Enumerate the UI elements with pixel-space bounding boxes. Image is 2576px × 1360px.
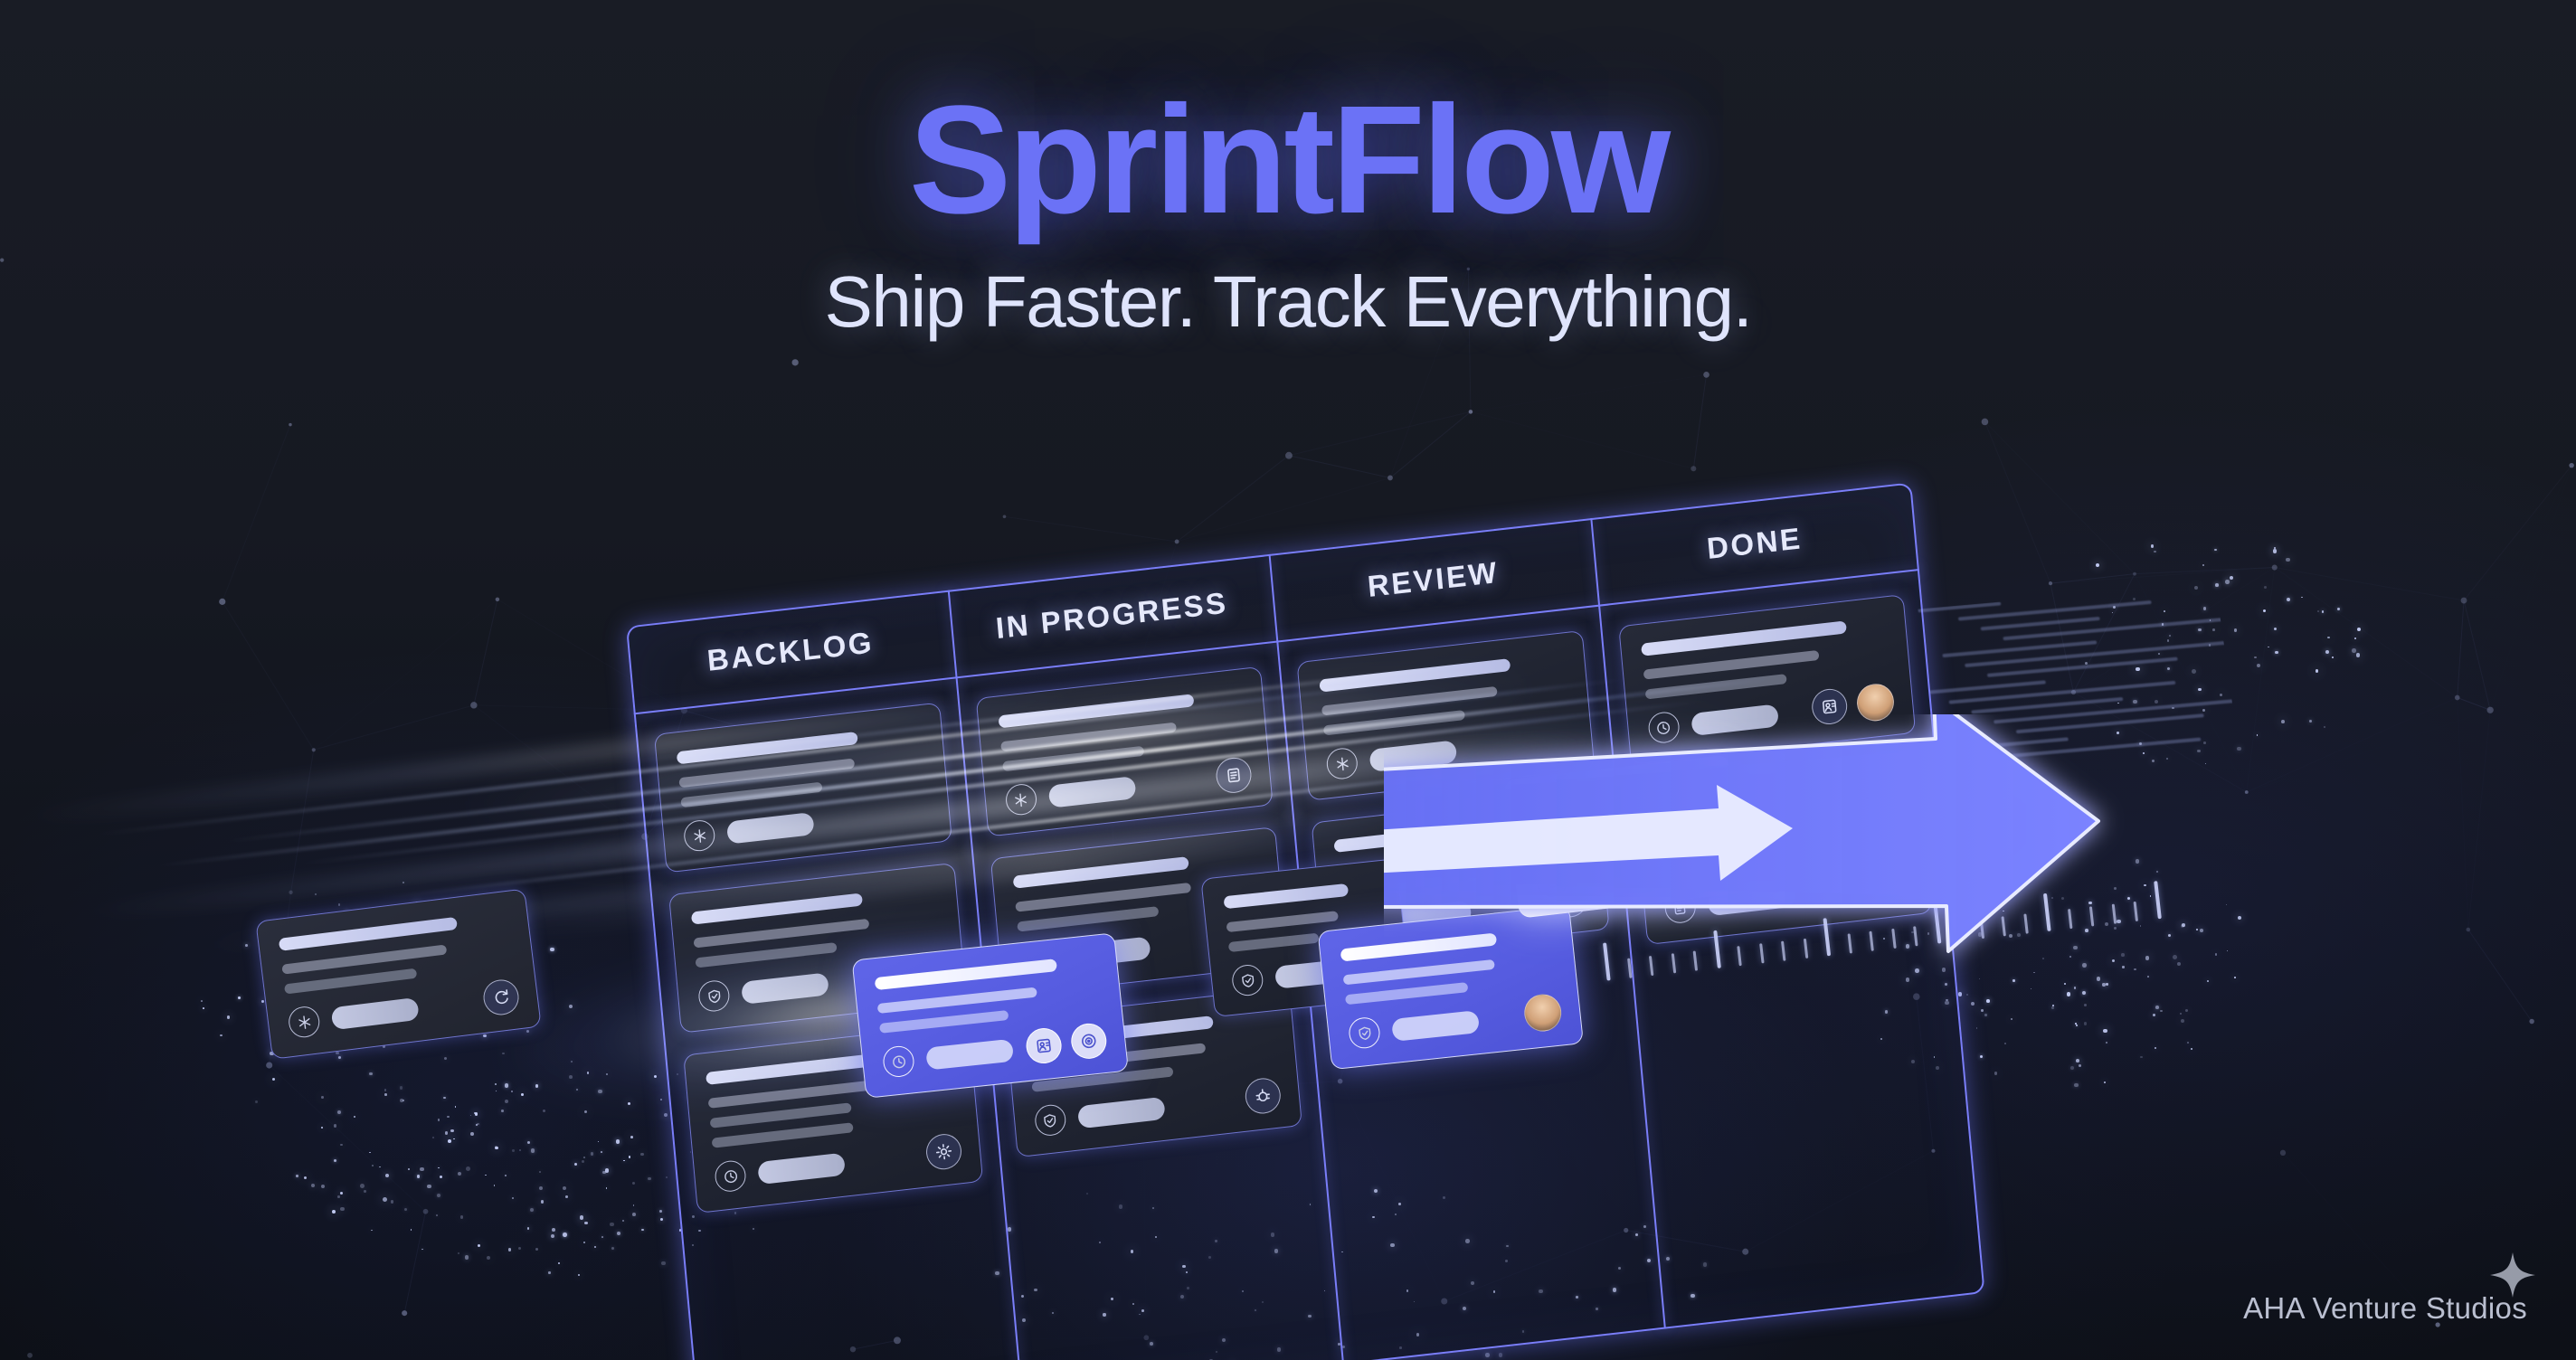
particle <box>391 1200 394 1204</box>
card-label-pill <box>741 972 829 1005</box>
constellation-line <box>291 705 474 892</box>
particle <box>337 1110 341 1114</box>
particle <box>2316 669 2318 672</box>
target-icon <box>1079 1032 1098 1051</box>
refresh-icon <box>491 987 510 1006</box>
card-text-line <box>1532 831 1640 853</box>
timeline-tick <box>2023 914 2028 934</box>
particle <box>2011 1018 2012 1020</box>
card-text-line <box>1015 883 1191 912</box>
constellation-line <box>2458 697 2490 710</box>
card-badges <box>1215 756 1253 795</box>
constellation-node <box>2245 790 2249 794</box>
clock-icon <box>1655 719 1672 736</box>
particle <box>2140 925 2142 927</box>
particle <box>505 1083 509 1088</box>
particle <box>576 1089 578 1091</box>
asterisk-icon-chip[interactable] <box>683 818 716 853</box>
shield-icon <box>1543 873 1560 890</box>
particle <box>2121 953 2125 957</box>
particle <box>610 1223 614 1227</box>
card-footer <box>714 1135 961 1193</box>
doc-icon-badge[interactable] <box>1215 756 1253 795</box>
shield-icon <box>1356 1025 1373 1042</box>
particle <box>2085 929 2088 932</box>
particle <box>2254 656 2256 658</box>
particle <box>2134 968 2136 971</box>
particle <box>1499 1353 1502 1356</box>
particle <box>443 1097 446 1100</box>
card-label-pill <box>1690 704 1779 736</box>
shield-icon-chip[interactable] <box>1535 864 1569 899</box>
constellation-line <box>2458 697 2468 930</box>
particle <box>535 1248 538 1251</box>
particle <box>2287 598 2290 601</box>
card-title-bar <box>1223 883 1348 909</box>
shield-icon-chip[interactable] <box>1033 1103 1066 1138</box>
particle <box>2273 549 2278 553</box>
particle <box>2012 979 2014 981</box>
particle <box>2033 972 2035 974</box>
particle <box>2263 609 2266 612</box>
timeline-tick <box>1759 943 1764 963</box>
card-text-line <box>1343 959 1496 986</box>
card-text-line <box>879 1010 1009 1034</box>
particle <box>2069 956 2071 958</box>
constellation-node <box>2133 572 2136 576</box>
particle <box>334 1124 336 1127</box>
constellation-line <box>2275 568 2490 711</box>
asterisk-icon <box>296 1014 313 1031</box>
particle <box>2112 959 2115 962</box>
shield-icon-chip[interactable] <box>1231 963 1264 996</box>
avatar[interactable] <box>1522 993 1563 1034</box>
particle <box>632 1213 636 1216</box>
particle <box>594 1246 596 1248</box>
particle <box>654 1075 657 1078</box>
particle <box>495 1083 497 1085</box>
particle <box>372 1165 374 1166</box>
timeline-tick <box>1957 921 1962 941</box>
particle <box>470 1115 471 1116</box>
particle <box>1994 1072 1998 1075</box>
particle <box>508 1248 512 1251</box>
particle <box>400 1086 403 1090</box>
constellation-node <box>402 1310 407 1316</box>
constellation-line <box>314 600 497 750</box>
particle <box>227 1015 230 1018</box>
constellation-line <box>2247 710 2490 792</box>
particle <box>571 1061 573 1062</box>
constellation-node <box>1003 515 1007 519</box>
watermark-text: AHA Venture Studios <box>2243 1291 2527 1326</box>
particle <box>2322 610 2324 612</box>
particle <box>541 1200 544 1203</box>
particle <box>2180 1013 2182 1015</box>
particle <box>582 1160 584 1163</box>
particle <box>448 1139 451 1143</box>
particle <box>539 1186 543 1190</box>
particle <box>666 1176 668 1178</box>
card-title-bar <box>677 732 858 764</box>
card-title-bar <box>691 893 863 925</box>
constellation-line <box>404 1212 425 1313</box>
timeline-tick <box>1737 946 1741 966</box>
particle <box>450 1129 454 1133</box>
constellation-node <box>1175 540 1179 544</box>
particle <box>238 996 241 999</box>
calendar-icon-badge[interactable] <box>1684 844 1723 883</box>
particle <box>360 1184 365 1188</box>
constellation-node <box>2049 581 2052 585</box>
contacts-icon-badge[interactable] <box>1811 687 1849 726</box>
constellation-line <box>2275 568 2458 698</box>
particle <box>477 1123 479 1126</box>
card-title-bar <box>875 959 1057 990</box>
particle <box>574 1163 577 1166</box>
shield-icon <box>1042 1111 1058 1129</box>
app-title: SprintFlow <box>0 0 2576 237</box>
avatar[interactable] <box>1855 682 1895 722</box>
particle <box>550 948 554 952</box>
constellation-line <box>314 705 474 750</box>
contacts-icon <box>1035 1036 1054 1055</box>
gear-icon-badge[interactable] <box>924 1132 962 1171</box>
constellation-line <box>1004 516 1177 542</box>
particle <box>501 1110 504 1112</box>
card-badges <box>1811 682 1896 728</box>
particle <box>2214 549 2216 551</box>
particle <box>1979 978 1980 979</box>
card-text-line <box>1345 982 1468 1005</box>
particle <box>640 1153 643 1156</box>
card-badges <box>1244 1076 1282 1115</box>
particle <box>420 1167 423 1171</box>
hero-text-block: SprintFlow Ship Faster. Track Everything… <box>0 0 2576 340</box>
particle <box>417 1175 420 1177</box>
particle <box>2153 1014 2155 1016</box>
particle <box>495 1147 497 1149</box>
particle <box>551 1234 554 1238</box>
particle <box>321 1096 324 1099</box>
timeline-tick <box>1891 929 1896 949</box>
asterisk-icon-chip[interactable] <box>287 1005 321 1039</box>
card-text-line <box>281 944 447 974</box>
asterisk-icon-chip[interactable] <box>1004 782 1037 817</box>
clock-icon <box>890 1053 907 1071</box>
particle <box>315 893 316 894</box>
card-text-line <box>712 1122 854 1148</box>
card-text-line <box>1321 686 1498 716</box>
particle <box>587 1072 589 1073</box>
particle <box>1966 994 1968 996</box>
flying-card[interactable] <box>851 932 1131 1120</box>
particle <box>2238 916 2241 920</box>
shield-icon-chip[interactable] <box>697 979 731 1014</box>
code-line <box>1994 697 2243 723</box>
constellation-line <box>2275 568 2464 601</box>
asterisk-icon <box>691 827 707 845</box>
particle <box>605 1168 609 1172</box>
particle <box>1986 999 1990 1003</box>
bug-icon-badge[interactable] <box>1244 1076 1282 1115</box>
particle <box>404 1208 407 1211</box>
particle <box>622 1220 623 1221</box>
code-line <box>1956 737 2069 751</box>
refresh-icon-badge[interactable] <box>481 977 520 1016</box>
constellation-line <box>1289 411 1471 455</box>
particle <box>648 1177 650 1180</box>
particle <box>2196 929 2198 930</box>
particle <box>2067 992 2071 996</box>
particle <box>641 1229 643 1231</box>
doc-icon <box>1225 766 1244 785</box>
constellation-node <box>1285 452 1293 459</box>
particle <box>453 1138 455 1140</box>
particle <box>2234 628 2238 632</box>
constellation-line <box>1177 477 1390 542</box>
timeline-tick <box>1781 941 1785 961</box>
particle <box>2104 1081 2106 1083</box>
particle <box>2185 1009 2188 1012</box>
clock-icon-chip[interactable] <box>1647 711 1681 745</box>
particle <box>565 1195 568 1198</box>
particle <box>478 1244 480 1247</box>
particle <box>521 1093 524 1096</box>
shield-icon <box>1239 972 1256 989</box>
particle <box>495 1146 497 1148</box>
particle <box>334 1159 336 1162</box>
task-card[interactable] <box>654 703 952 874</box>
particle <box>2177 962 2181 966</box>
particle <box>338 903 341 906</box>
particle <box>2122 966 2124 968</box>
particle <box>2274 628 2277 630</box>
particle <box>527 1227 530 1230</box>
card-label-pill <box>1368 740 1457 772</box>
particle <box>563 1232 567 1237</box>
card-label-pill <box>925 1038 1014 1070</box>
card-footer <box>1325 722 1572 780</box>
constellation-node <box>289 891 292 894</box>
clock-icon-chip[interactable] <box>714 1159 747 1194</box>
particle <box>476 1124 478 1127</box>
particle <box>606 1187 608 1189</box>
particle <box>402 882 404 883</box>
particle <box>1980 1055 1983 1058</box>
constellation-line <box>795 363 1004 516</box>
particle <box>584 1222 588 1225</box>
particle <box>2191 1048 2192 1050</box>
flying-card[interactable] <box>1504 754 1747 940</box>
particle <box>2103 1029 2107 1034</box>
card-text-line <box>1226 911 1338 932</box>
card-text-line <box>284 968 418 995</box>
column-header-label: BACKLOG <box>706 625 875 677</box>
particle <box>2145 956 2149 959</box>
constellation-line <box>270 1065 426 1212</box>
timeline-tick <box>2154 881 2162 919</box>
constellation-line <box>2050 574 2135 583</box>
bug-icon <box>1254 1086 1273 1105</box>
code-snippet-decoration <box>1918 583 2243 807</box>
particle <box>2106 1042 2107 1044</box>
particle <box>337 1195 340 1198</box>
constellation-node <box>2280 1150 2286 1156</box>
code-line <box>2003 617 2232 640</box>
particle <box>558 1262 560 1264</box>
particle <box>402 1100 404 1101</box>
particle <box>2084 1004 2087 1006</box>
particle <box>2051 1006 2054 1009</box>
particle <box>475 1112 478 1115</box>
constellation-node <box>470 702 477 708</box>
particle <box>255 1100 258 1103</box>
particle <box>629 1156 631 1158</box>
target-icon-badge[interactable] <box>1069 1022 1108 1061</box>
particle <box>438 1119 440 1121</box>
task-card[interactable] <box>1504 754 1745 918</box>
asterisk-icon <box>1334 755 1350 772</box>
constellation-node <box>312 748 316 751</box>
particle <box>535 1084 538 1087</box>
card-badges <box>1522 993 1563 1034</box>
constellation-line <box>474 600 497 705</box>
particle <box>321 1185 325 1188</box>
constellation-line <box>2458 466 2571 698</box>
particle <box>611 1247 614 1250</box>
particle <box>474 1112 476 1114</box>
clock-icon-chip[interactable] <box>882 1044 915 1078</box>
task-card[interactable] <box>851 932 1128 1099</box>
particle <box>628 1102 630 1105</box>
constellation-line <box>1693 374 1706 468</box>
constellation-line <box>1177 456 1289 542</box>
particle <box>2202 564 2204 566</box>
shield-icon-chip[interactable] <box>1348 1016 1381 1050</box>
card-text-line <box>694 919 870 949</box>
code-line <box>1918 601 2002 612</box>
constellation-line <box>2050 568 2275 584</box>
particle <box>440 1176 442 1178</box>
particle <box>2309 720 2312 722</box>
constellation-line <box>474 705 645 836</box>
hero-banner: SprintFlow Ship Faster. Track Everything… <box>0 0 2576 1360</box>
card-label-pill <box>1047 776 1136 808</box>
constellation-node <box>423 1209 429 1214</box>
asterisk-icon <box>1012 791 1028 808</box>
contacts-icon-badge[interactable] <box>1025 1026 1064 1065</box>
card-text-line <box>1644 674 1786 700</box>
particle <box>2160 1010 2162 1012</box>
particle <box>505 1100 509 1104</box>
particle <box>602 1171 605 1174</box>
particle <box>2230 576 2233 580</box>
card-label-pill <box>1076 1096 1165 1129</box>
constellation-node <box>792 359 799 365</box>
particle <box>2052 1005 2054 1006</box>
particle <box>661 1261 666 1266</box>
card-text-line <box>1529 808 1662 834</box>
particle <box>321 1127 323 1129</box>
particle <box>2257 664 2260 667</box>
particle <box>617 1232 620 1235</box>
particle <box>400 1099 404 1103</box>
particle <box>432 1137 434 1138</box>
card-footer <box>1004 759 1251 817</box>
task-card[interactable] <box>255 888 542 1059</box>
particle <box>2168 934 2171 937</box>
particle <box>539 1171 541 1173</box>
particle <box>583 1242 585 1243</box>
constellation-line <box>2247 792 2468 930</box>
particle <box>569 1075 573 1079</box>
particle <box>552 1228 555 1232</box>
particle <box>411 1229 412 1231</box>
particle <box>369 1072 372 1075</box>
task-card[interactable] <box>1618 594 1916 765</box>
tagline: Ship Faster. Track Everything. <box>0 237 2576 340</box>
constellation-node <box>2455 695 2460 701</box>
card-label-pill <box>1391 1010 1480 1042</box>
code-line <box>1981 617 2100 630</box>
card-title-bar <box>1012 856 1189 889</box>
particle <box>2173 955 2177 959</box>
flying-card[interactable] <box>255 888 544 1081</box>
particle <box>1984 1014 1987 1016</box>
particle <box>527 1141 530 1144</box>
timeline-tick <box>1913 926 1918 946</box>
code-line <box>1929 680 2046 694</box>
particle <box>487 1256 490 1260</box>
particle <box>659 1210 662 1213</box>
task-card[interactable] <box>975 666 1273 837</box>
particle <box>460 1215 463 1218</box>
particle <box>505 1175 507 1176</box>
particle <box>447 1116 449 1118</box>
particle <box>2074 987 2077 989</box>
constellation-node <box>1387 476 1393 481</box>
particle <box>2155 1006 2159 1009</box>
constellation-line <box>291 750 314 892</box>
clock-icon <box>722 1167 738 1185</box>
sparkle-icon <box>1650 859 1669 878</box>
particle <box>630 1136 633 1138</box>
constellation-node <box>1703 372 1709 378</box>
particle <box>2147 976 2149 977</box>
card-title-bar <box>1333 821 1505 853</box>
card-label-pill <box>726 812 815 845</box>
particle <box>2356 653 2361 657</box>
card-text-line <box>1002 746 1144 772</box>
sparkle-icon-badge[interactable] <box>1640 849 1679 888</box>
particle <box>519 1149 521 1151</box>
shield-icon <box>706 987 722 1005</box>
particle <box>2154 551 2156 553</box>
constellation-node <box>1982 419 1989 426</box>
particle <box>2151 544 2155 548</box>
constellation-line <box>2464 600 2490 710</box>
timeline-tick <box>1649 956 1653 976</box>
asterisk-icon-chip[interactable] <box>1325 747 1359 781</box>
particle <box>2301 597 2302 598</box>
particle <box>2275 651 2278 654</box>
particle <box>569 1005 573 1008</box>
constellation-line <box>1390 411 1471 477</box>
constellation-line <box>1984 421 2135 573</box>
timeline-tick <box>2089 906 2094 926</box>
particle <box>2215 953 2218 956</box>
